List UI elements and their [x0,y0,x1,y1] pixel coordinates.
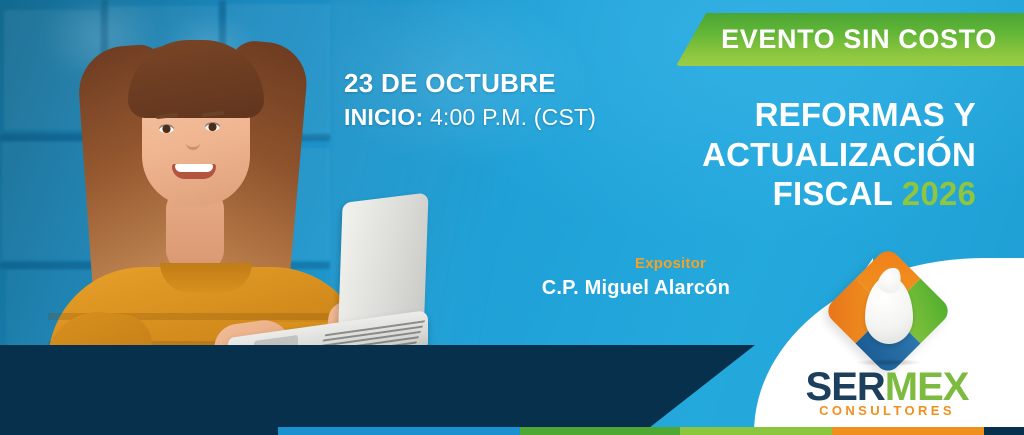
strip-segment-orange [832,427,984,435]
strip-segment-navy-end [984,427,1024,435]
free-event-ribbon: EVENTO SIN COSTO [676,13,1024,66]
strip-segment-light-green [680,427,832,435]
sermex-wordmark: SERMEX [784,367,990,407]
strip-segment-green [520,427,680,435]
event-date-block: 23 DE OCTUBRE INICIO: 4:00 P.M. (CST) [344,70,596,131]
speaker-block: Expositor C.P. Miguel Alarcón [400,255,730,300]
headline-fiscal: FISCAL [773,175,893,212]
speaker-name: C.P. Miguel Alarcón [400,277,730,300]
free-event-label: EVENTO SIN COSTO [703,24,997,55]
logo-tagline: CONSULTORES [784,403,990,418]
event-date: 23 DE OCTUBRE [344,70,596,97]
sermex-logo: SERMEX CONSULTORES [784,263,990,413]
headline-year: 2026 [902,175,976,212]
bottom-color-strip [0,427,1024,435]
strip-segment-blue [278,427,520,435]
event-start-label: INICIO: [344,104,423,130]
promo-banner: EVENTO SIN COSTO REFORMAS Y ACTUALIZACIÓ… [0,0,1024,435]
event-start-value: 4:00 P.M. (CST) [430,104,596,130]
speaker-role: Expositor [400,255,730,272]
headline-line-3: FISCAL 2026 [506,174,976,214]
strip-segment-navy [0,427,278,435]
headline-line-2: ACTUALIZACIÓN [506,135,976,175]
event-start-time: INICIO: 4:00 P.M. (CST) [344,104,596,131]
